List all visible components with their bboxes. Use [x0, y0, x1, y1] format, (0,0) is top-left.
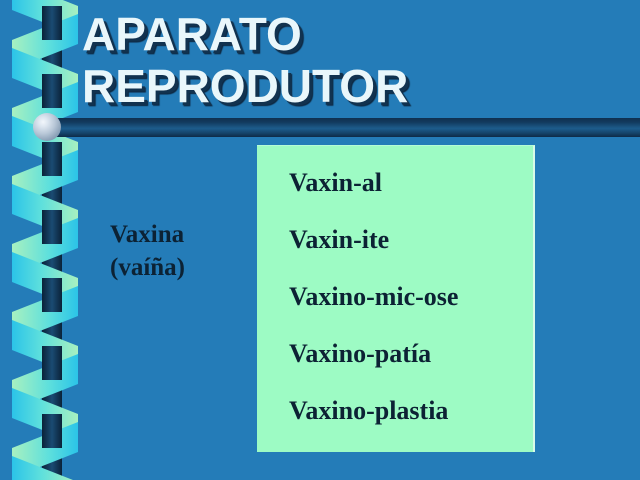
list-item: Vaxino-plastia [289, 392, 533, 449]
slide-canvas: APARATO REPRODUTOR Vaxina (vaíña) Vaxin-… [0, 0, 640, 480]
helix-ribbon-icon [0, 0, 92, 480]
list-item: Vaxin-ite [289, 221, 533, 278]
derived-terms-box: Vaxin-al Vaxin-ite Vaxino-mic-ose Vaxino… [257, 145, 535, 452]
list-item: Vaxino-mic-ose [289, 278, 533, 335]
list-item: Vaxino-patía [289, 335, 533, 392]
divider-sphere-icon [33, 113, 61, 141]
page-title: APARATO REPRODUTOR [82, 8, 622, 112]
term-root-caption: Vaxina (vaíña) [110, 218, 240, 284]
list-item: Vaxin-al [289, 164, 533, 221]
title-divider-bar [44, 118, 640, 137]
